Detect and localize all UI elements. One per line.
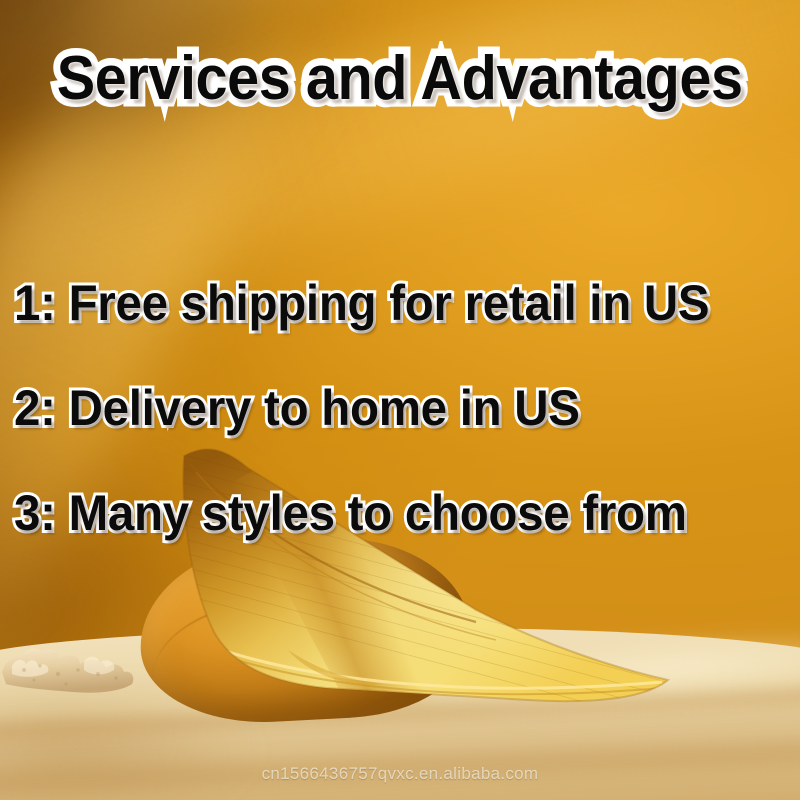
page-title: Services and Advantages — [57, 43, 743, 114]
list-item-text: 1: Free shipping for retail in US — [14, 274, 709, 332]
list-item: 1: Free shipping for retail in US — [0, 250, 800, 355]
list-item-text: 3: Many styles to choose from — [14, 484, 687, 542]
list-item-text: 2: Delivery to home in US — [14, 379, 580, 437]
list-item: 3: Many styles to choose from — [0, 460, 800, 565]
marketing-banner: Services and Advantages 1: Free shipping… — [0, 0, 800, 800]
headline-banner: Services and Advantages — [0, 30, 800, 126]
list-item: 2: Delivery to home in US — [0, 355, 800, 460]
coral-decor-object — [0, 636, 138, 702]
watermark: cn1566436757qvxc.en.alibaba.com — [0, 764, 800, 784]
advantages-list: 1: Free shipping for retail in US 2: Del… — [0, 250, 800, 565]
